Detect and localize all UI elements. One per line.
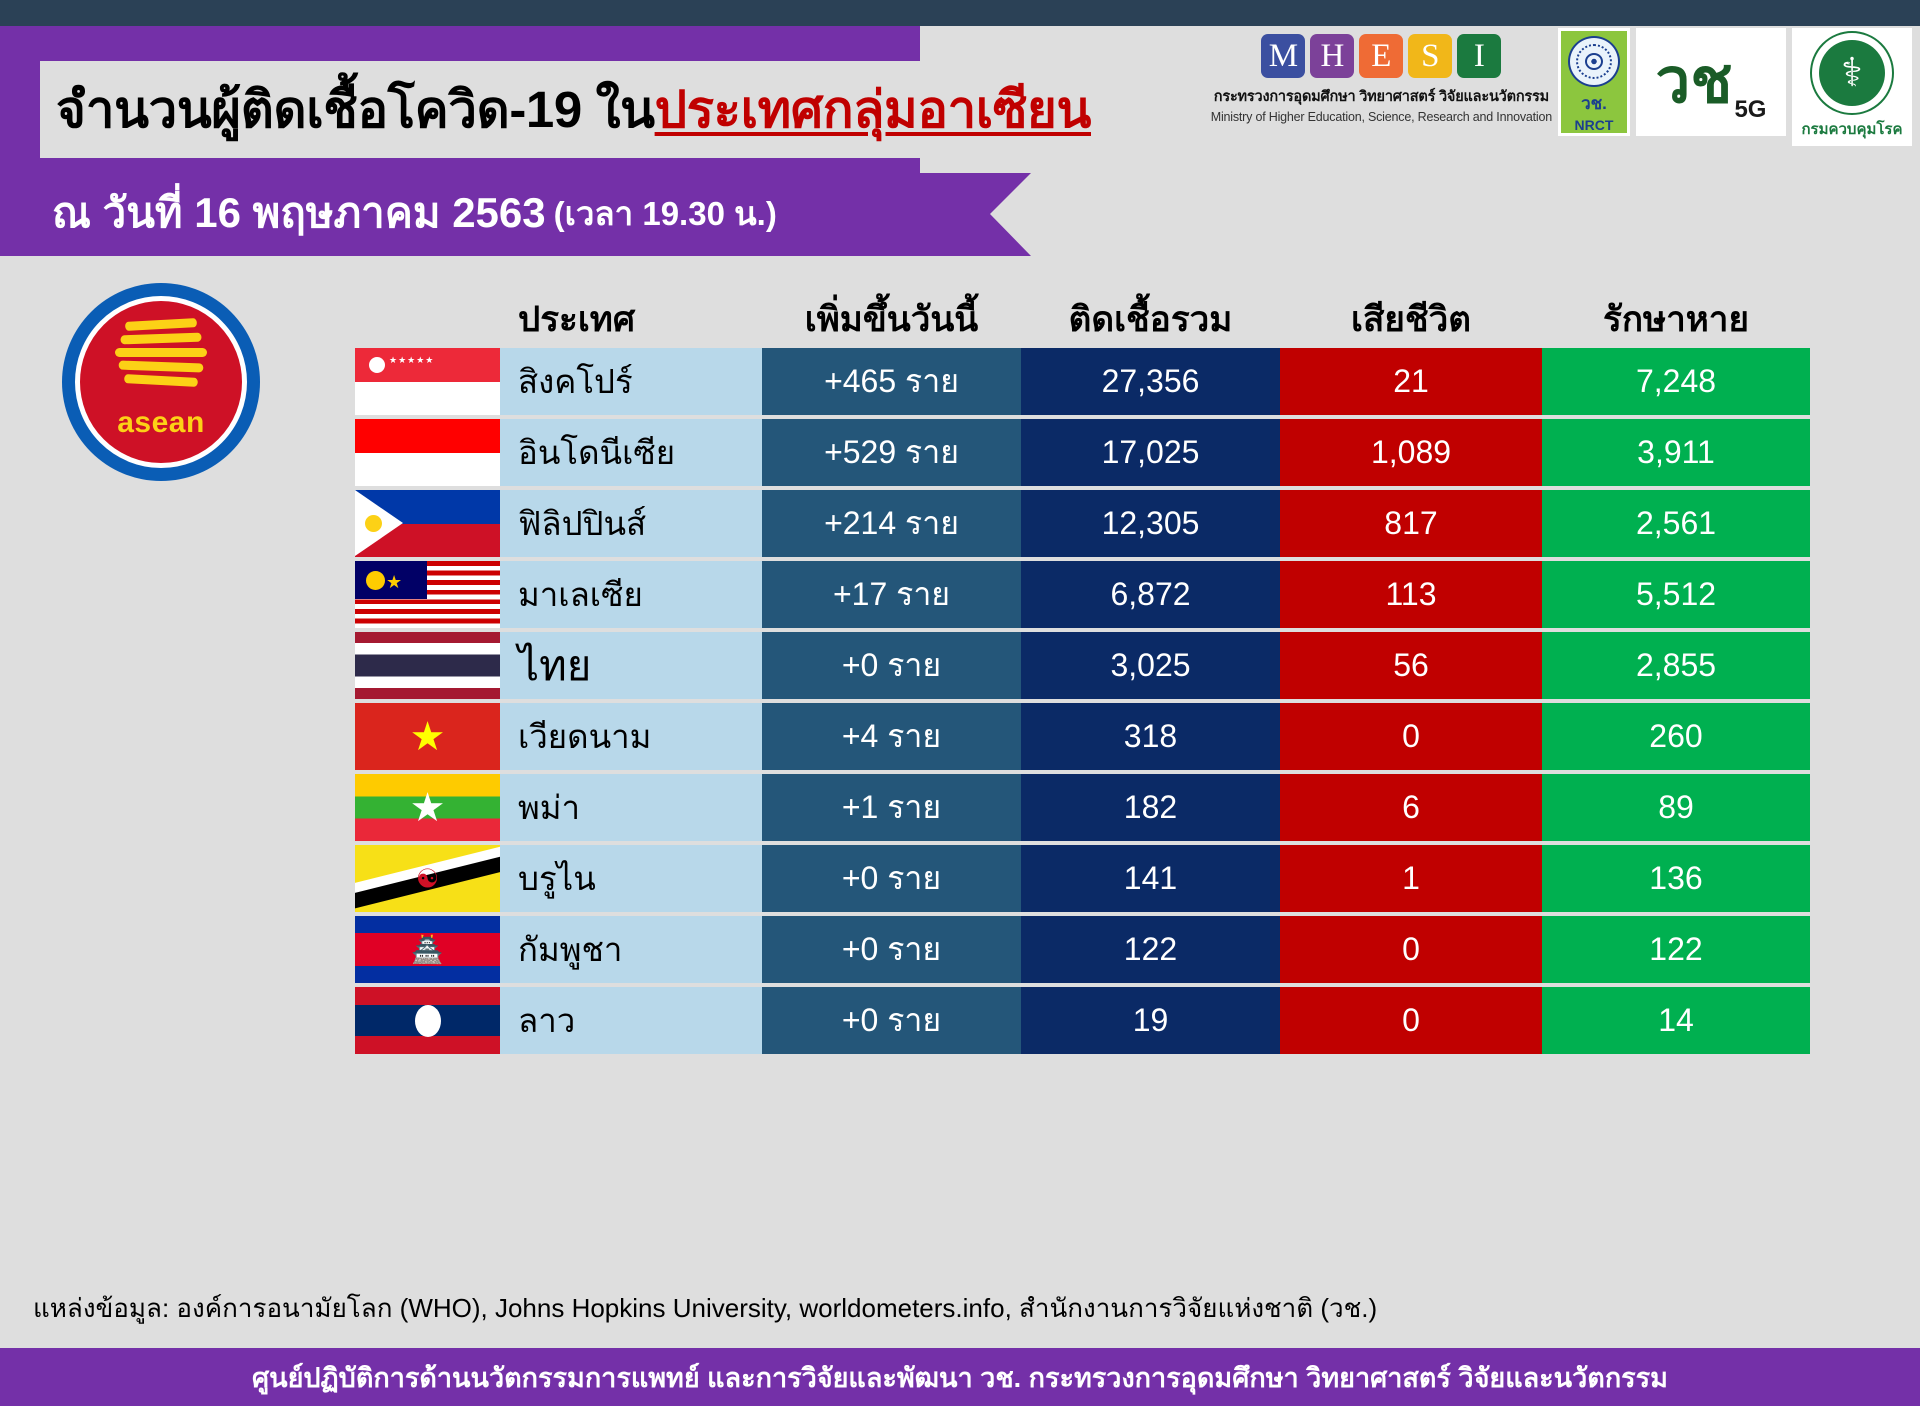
table-row: ★★★★★ สิงคโปร์ +465 ราย 27,356 21 7,248 <box>355 348 1810 415</box>
header-country: ประเทศ <box>500 292 762 347</box>
top-navy-strip <box>0 0 1920 26</box>
source-note: แหล่งข้อมูล: องค์การอนามัยโลก (WHO), Joh… <box>33 1288 1377 1329</box>
cell-deaths: 21 <box>1280 348 1542 415</box>
cell-new-today: +529 ราย <box>762 419 1021 486</box>
mhesi-logo: M H E S I กระทรวงการอุดมศึกษา วิทยาศาสตร… <box>1211 28 1552 124</box>
mhesi-letter-blocks: M H E S I <box>1261 34 1501 78</box>
cell-country: พม่า <box>500 774 762 841</box>
cell-recovered: 2,855 <box>1542 632 1810 699</box>
cambodia-flag-icon: 🏯 <box>355 916 500 983</box>
vch-5g-suffix: 5G <box>1734 96 1766 124</box>
table-row: ★ พม่า +1 ราย 182 6 89 <box>355 774 1810 841</box>
cell-recovered: 89 <box>1542 774 1810 841</box>
vch-wordmark: วช <box>1656 51 1733 113</box>
nrct-logo: วช. NRCT <box>1558 28 1630 136</box>
cell-country: กัมพูชา <box>500 916 762 983</box>
cell-country: สิงคโปร์ <box>500 348 762 415</box>
bottom-bar: ศูนย์ปฏิบัติการด้านนวัตกรรมการแพทย์ และก… <box>0 1348 1920 1406</box>
table-row: ☯ บรูไน +0 ราย 141 1 136 <box>355 845 1810 912</box>
cell-deaths: 817 <box>1280 490 1542 557</box>
cell-new-today: +0 ราย <box>762 987 1021 1054</box>
mhesi-thai-name: กระทรวงการอุดมศึกษา วิทยาศาสตร์ วิจัยและ… <box>1214 85 1549 108</box>
mhesi-letter-i: I <box>1457 34 1501 78</box>
nrct-seal-icon <box>1568 36 1620 87</box>
table-row: อินโดนีเซีย +529 ราย 17,025 1,089 3,911 <box>355 419 1810 486</box>
mhesi-letter-h: H <box>1310 34 1354 78</box>
table-row: 🏯 กัมพูชา +0 ราย 122 0 122 <box>355 916 1810 983</box>
header-new-today: เพิ่มขึ้นวันนี้ <box>762 292 1021 347</box>
asean-emblem-inner: asean <box>75 296 247 468</box>
cell-recovered: 2,561 <box>1542 490 1810 557</box>
cell-total-cases: 122 <box>1021 916 1280 983</box>
header-recovered: รักษาหาย <box>1542 292 1810 347</box>
cell-deaths: 113 <box>1280 561 1542 628</box>
cell-country: มาเลเซีย <box>500 561 762 628</box>
vch-5g-logo: วช 5G <box>1636 28 1786 136</box>
cell-new-today: +0 ราย <box>762 632 1021 699</box>
cell-recovered: 136 <box>1542 845 1810 912</box>
cell-deaths: 0 <box>1280 703 1542 770</box>
cell-deaths: 56 <box>1280 632 1542 699</box>
header-total-cases: ติดเชื้อรวม <box>1021 292 1280 347</box>
subtitle-date: ณ วันที่ 16 พฤษภาคม 2563 <box>52 180 546 246</box>
page-title-prefix: จำนวนผู้ติดเชื้อโควิด-19 ใน <box>56 81 655 138</box>
infographic-page: จำนวนผู้ติดเชื้อโควิด-19 ในประเทศกลุ่มอา… <box>0 0 1920 1406</box>
table-row: ★ เวียดนาม +4 ราย 318 0 260 <box>355 703 1810 770</box>
indonesia-flag-icon <box>355 419 500 486</box>
cell-total-cases: 6,872 <box>1021 561 1280 628</box>
cell-recovered: 122 <box>1542 916 1810 983</box>
cell-country: ไทย <box>500 632 762 699</box>
asean-rice-stalks-icon <box>115 318 207 404</box>
cell-new-today: +214 ราย <box>762 490 1021 557</box>
nrct-english-abbr: NRCT <box>1575 117 1614 133</box>
moph-seal-icon: ⚕ <box>1810 31 1894 115</box>
cell-deaths: 0 <box>1280 987 1542 1054</box>
cell-total-cases: 17,025 <box>1021 419 1280 486</box>
caduceus-icon: ⚕ <box>1841 53 1863 93</box>
cell-country: บรูไน <box>500 845 762 912</box>
cell-new-today: +0 ราย <box>762 916 1021 983</box>
thailand-flag-icon <box>355 632 500 699</box>
cell-new-today: +17 ราย <box>762 561 1021 628</box>
table-row: ฟิลิปปินส์ +214 ราย 12,305 817 2,561 <box>355 490 1810 557</box>
cell-country: ฟิลิปปินส์ <box>500 490 762 557</box>
nrct-thai-abbr: วช. <box>1581 90 1607 117</box>
cell-total-cases: 12,305 <box>1021 490 1280 557</box>
cell-total-cases: 141 <box>1021 845 1280 912</box>
cell-new-today: +465 ราย <box>762 348 1021 415</box>
bottom-bar-text: ศูนย์ปฏิบัติการด้านนวัตกรรมการแพทย์ และก… <box>252 1356 1668 1399</box>
laos-flag-icon <box>355 987 500 1054</box>
table-row: ลาว +0 ราย 19 0 14 <box>355 987 1810 1054</box>
brunei-flag-icon: ☯ <box>355 845 500 912</box>
vietnam-flag-icon: ★ <box>355 703 500 770</box>
cell-recovered: 260 <box>1542 703 1810 770</box>
logo-group: M H E S I กระทรวงการอุดมศึกษา วิทยาศาสตร… <box>1211 28 1912 156</box>
cell-recovered: 3,911 <box>1542 419 1810 486</box>
cell-total-cases: 3,025 <box>1021 632 1280 699</box>
cell-new-today: +4 ราย <box>762 703 1021 770</box>
cell-country: อินโดนีเซีย <box>500 419 762 486</box>
singapore-flag-icon: ★★★★★ <box>355 348 500 415</box>
header-deaths: เสียชีวิต <box>1280 292 1542 347</box>
asean-emblem: asean <box>62 283 260 481</box>
table-row: ★ มาเลเซีย +17 ราย 6,872 113 5,512 <box>355 561 1810 628</box>
mhesi-letter-s: S <box>1408 34 1452 78</box>
cell-total-cases: 27,356 <box>1021 348 1280 415</box>
covid-table: ประเทศ เพิ่มขึ้นวันนี้ ติดเชื้อรวม เสียช… <box>355 290 1810 1058</box>
subtitle: ณ วันที่ 16 พฤษภาคม 2563 (เวลา 19.30 น.) <box>52 175 777 251</box>
myanmar-flag-icon: ★ <box>355 774 500 841</box>
moph-logo: ⚕ กรมควบคุมโรค <box>1792 28 1912 146</box>
cell-recovered: 7,248 <box>1542 348 1810 415</box>
table-header-row: ประเทศ เพิ่มขึ้นวันนี้ ติดเชื้อรวม เสียช… <box>355 290 1810 348</box>
cell-new-today: +0 ราย <box>762 845 1021 912</box>
malaysia-flag-icon: ★ <box>355 561 500 628</box>
mhesi-letter-m: M <box>1261 34 1305 78</box>
cell-country: ลาว <box>500 987 762 1054</box>
cell-deaths: 1,089 <box>1280 419 1542 486</box>
page-title-highlight: ประเทศกลุ่มอาเซียน <box>655 81 1091 138</box>
page-title-band: จำนวนผู้ติดเชื้อโควิด-19 ในประเทศกลุ่มอา… <box>40 61 1130 158</box>
cell-new-today: +1 ราย <box>762 774 1021 841</box>
table-row: ไทย +0 ราย 3,025 56 2,855 <box>355 632 1810 699</box>
philippines-flag-icon <box>355 490 500 557</box>
moph-thai-label: กรมควบคุมโรค <box>1801 117 1902 141</box>
cell-recovered: 5,512 <box>1542 561 1810 628</box>
mhesi-letter-e: E <box>1359 34 1403 78</box>
asean-wordmark: asean <box>117 406 205 440</box>
mhesi-english-name: Ministry of Higher Education, Science, R… <box>1211 110 1552 124</box>
cell-deaths: 1 <box>1280 845 1542 912</box>
cell-country: เวียดนาม <box>500 703 762 770</box>
cell-total-cases: 182 <box>1021 774 1280 841</box>
cell-total-cases: 19 <box>1021 987 1280 1054</box>
cell-total-cases: 318 <box>1021 703 1280 770</box>
page-title: จำนวนผู้ติดเชื้อโควิด-19 ในประเทศกลุ่มอา… <box>40 69 1091 150</box>
subtitle-time: (เวลา 19.30 น.) <box>554 187 777 240</box>
cell-recovered: 14 <box>1542 987 1810 1054</box>
cell-deaths: 6 <box>1280 774 1542 841</box>
cell-deaths: 0 <box>1280 916 1542 983</box>
